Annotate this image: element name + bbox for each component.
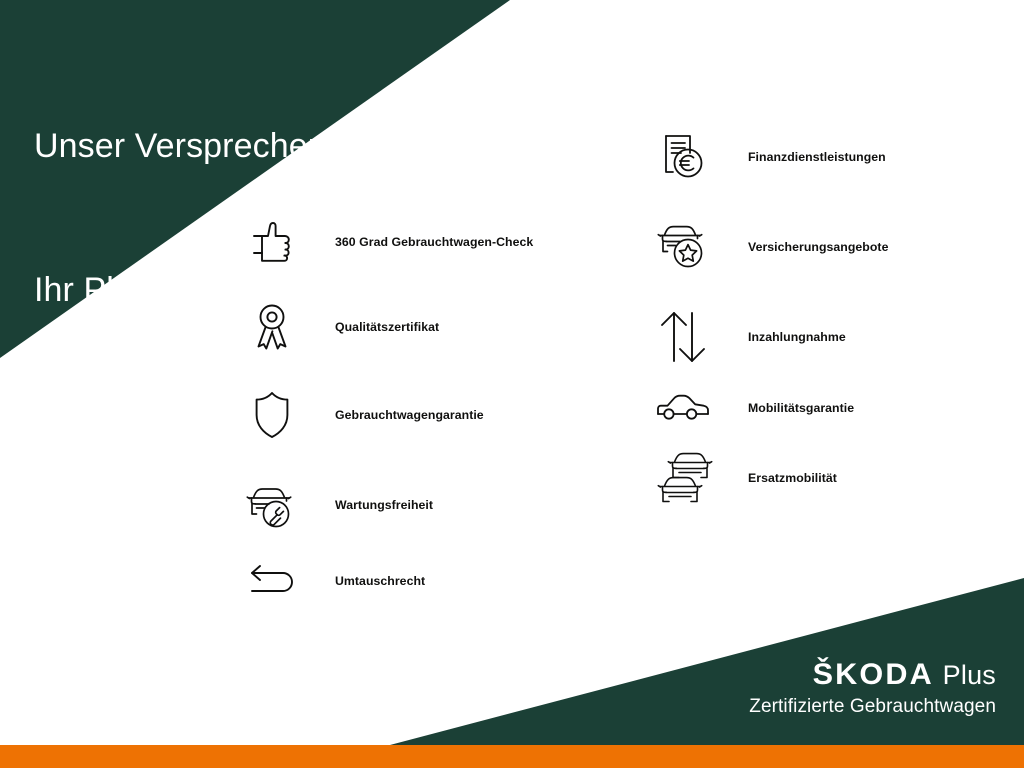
feature-label: Wartungsfreiheit [335,498,433,512]
orange-bottom-bar [0,745,1024,768]
shield-icon [241,385,303,445]
car-star-icon [652,217,714,277]
feature-label: 360 Grad Gebrauchtwagen-Check [335,235,533,249]
feature-label: Gebrauchtwagengarantie [335,408,484,422]
up-down-arrows-icon [652,307,714,367]
award-rosette-icon [241,297,303,357]
logo-tagline: Zertifizierte Gebrauchtwagen [749,697,996,716]
return-arrow-icon [241,551,303,611]
feature-item-wartungsfreiheit: Wartungsfreiheit [241,475,433,535]
feature-item-inzahlungnahme: Inzahlungnahme [652,307,846,367]
feature-item-gebrauchtwagen-check: 360 Grad Gebrauchtwagen-Check [241,212,533,272]
feature-item-gebrauchtwagengarantie: Gebrauchtwagengarantie [241,385,484,445]
feature-label: Mobilitätsgarantie [748,401,854,415]
feature-label: Versicherungsangebote [748,240,888,254]
feature-label: Ersatzmobilität [748,471,837,485]
logo-plus-word: Plus [943,662,996,689]
feature-label: Finanzdienstleistungen [748,150,886,164]
feature-item-ersatzmobilitaet: Ersatzmobilität [652,448,837,508]
feature-label: Qualitätszertifikat [335,320,439,334]
logo-wordmark-row: ŠKODA Plus [749,660,996,690]
feature-label: Inzahlungnahme [748,330,846,344]
skoda-wordmark: ŠKODA [812,660,933,690]
promo-banner: Unser Versprechen. Ihr Plus. 360 Grad Ge… [0,0,1024,768]
car-wrench-icon [241,475,303,535]
feature-item-umtauschrecht: Umtauschrecht [241,551,425,611]
document-euro-icon [652,127,714,187]
two-cars-icon [652,448,714,508]
feature-label: Umtauschrecht [335,574,425,588]
thumbs-up-icon [241,212,303,272]
feature-item-finanzdienstleistungen: Finanzdienstleistungen [652,127,886,187]
headline-line-1: Unser Versprechen. [34,122,336,170]
skoda-plus-logo: ŠKODA Plus Zertifizierte Gebrauchtwagen [749,660,996,716]
feature-item-qualitaetszertifikat: Qualitätszertifikat [241,297,439,357]
car-side-icon [652,378,714,438]
feature-item-mobilitaetsgarantie: Mobilitätsgarantie [652,378,854,438]
feature-item-versicherungsangebote: Versicherungsangebote [652,217,888,277]
